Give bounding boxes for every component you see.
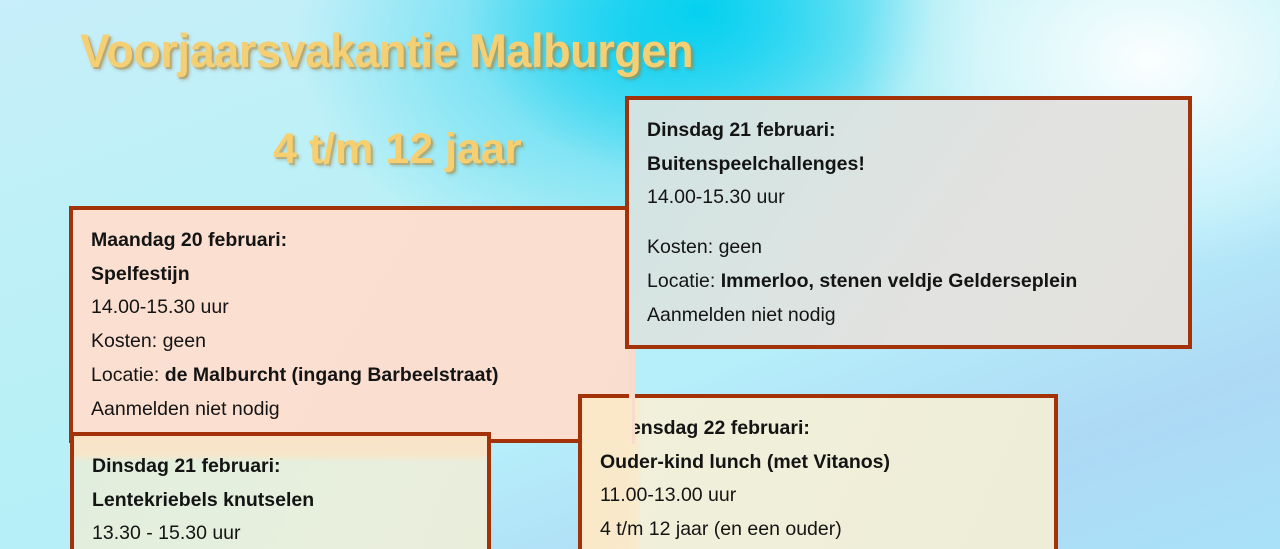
- card-tuesday-outdoor-location-value: Immerloo, stenen veldje Gelderseplein: [721, 270, 1078, 292]
- card-monday-cost-label: Kosten:: [91, 330, 157, 352]
- card-wednesday-age: 4 t/m 12 jaar (en een ouder): [600, 513, 1036, 547]
- card-tuesday-outdoor-cost-label: Kosten:: [647, 236, 713, 258]
- card-tuesday-outdoor-spacer: [647, 215, 1170, 231]
- card-monday-cost-value: geen: [163, 330, 206, 352]
- card-tuesday-outdoor-activity: Buitenspeelchallenges!: [647, 148, 1170, 182]
- card-tuesday-outdoor-signup: Aanmelden niet nodig: [647, 299, 1170, 333]
- card-wednesday-activity: Ouder-kind lunch (met Vitanos): [600, 446, 1036, 480]
- card-monday-activity: Spelfestijn: [91, 258, 613, 292]
- card-monday-cost: Kosten: geen: [91, 325, 613, 359]
- card-tuesday-outdoor-cost-value: geen: [719, 236, 762, 258]
- activity-card-tuesday-outdoor: Dinsdag 21 februari: Buitenspeelchalleng…: [625, 96, 1192, 349]
- activity-card-tuesday-craft: Dinsdag 21 februari: Lentekriebels knuts…: [70, 432, 491, 549]
- activity-card-monday: Maandag 20 februari: Spelfestijn 14.00-1…: [69, 206, 635, 443]
- page-subtitle-age-range: 4 t/m 12 jaar: [273, 125, 522, 174]
- card-wednesday-day: Woensdag 22 februari:: [600, 412, 1036, 446]
- card-monday-time: 14.00-15.30 uur: [91, 291, 613, 325]
- poster-canvas: Voorjaarsvakantie Malburgen 4 t/m 12 jaa…: [0, 0, 1280, 549]
- activity-card-wednesday: Woensdag 22 februari: Ouder-kind lunch (…: [578, 394, 1058, 549]
- card-tuesday-outdoor-cost: Kosten: geen: [647, 231, 1170, 265]
- card-tuesday-craft-time: 13.30 - 15.30 uur: [92, 517, 469, 549]
- card-monday-location: Locatie: de Malburcht (ingang Barbeelstr…: [91, 359, 613, 393]
- card-monday-day: Maandag 20 februari:: [91, 224, 613, 258]
- page-title: Voorjaarsvakantie Malburgen: [80, 23, 693, 78]
- card-tuesday-outdoor-location: Locatie: Immerloo, stenen veldje Gelders…: [647, 265, 1170, 299]
- card-wednesday-time: 11.00-13.00 uur: [600, 479, 1036, 513]
- card-monday-signup: Aanmelden niet nodig: [91, 393, 613, 427]
- card-tuesday-outdoor-day: Dinsdag 21 februari:: [647, 114, 1170, 148]
- card-tuesday-craft-day: Dinsdag 21 februari:: [92, 450, 469, 484]
- card-monday-location-value: de Malburcht (ingang Barbeelstraat): [165, 364, 499, 386]
- card-tuesday-outdoor-time: 14.00-15.30 uur: [647, 181, 1170, 215]
- card-tuesday-outdoor-location-label: Locatie:: [647, 270, 715, 292]
- card-monday-location-label: Locatie:: [91, 364, 159, 386]
- card-tuesday-craft-activity: Lentekriebels knutselen: [92, 484, 469, 518]
